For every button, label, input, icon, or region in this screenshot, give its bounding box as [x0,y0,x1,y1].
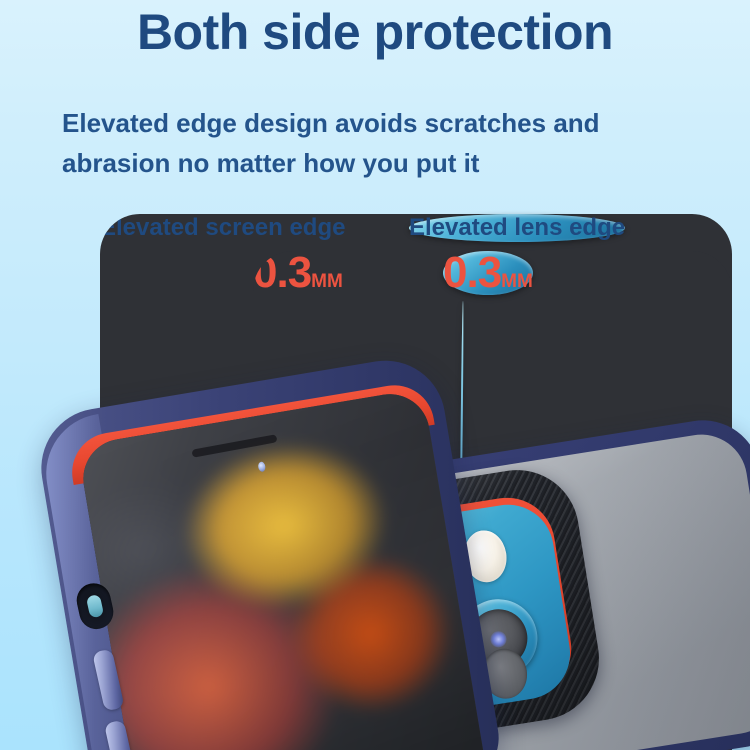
lens-glint [490,630,508,648]
phone-front-view [32,352,505,750]
mute-switch[interactable] [86,594,104,619]
product-photo [0,0,750,750]
promo-banner: Both side protection Elevated edge desig… [0,0,750,750]
